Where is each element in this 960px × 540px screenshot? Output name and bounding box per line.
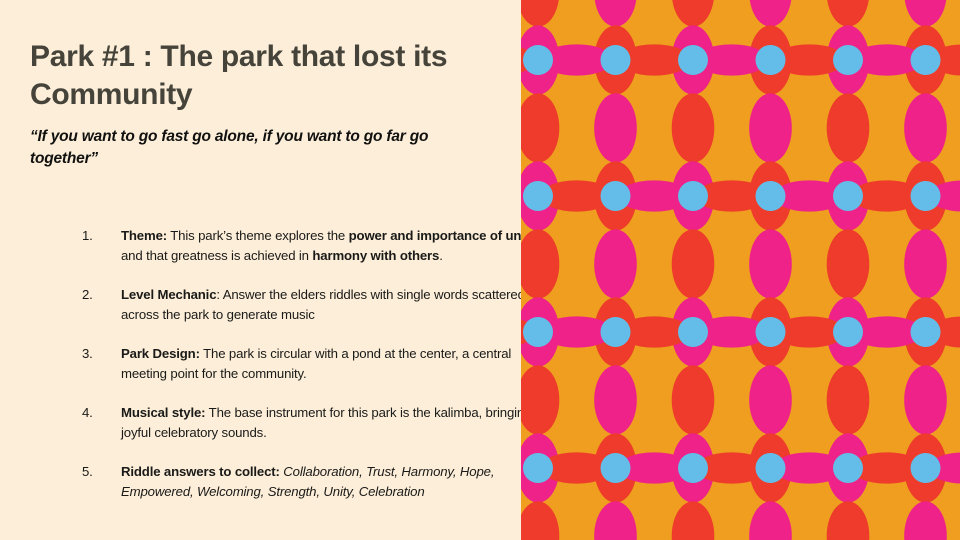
pattern-center-circle: [523, 181, 553, 211]
pattern-center-circle: [523, 453, 553, 483]
pattern-center-circle: [911, 453, 941, 483]
pattern-center-circle: [911, 317, 941, 347]
pattern-petal-vertical: [594, 365, 637, 434]
pattern-petal-vertical: [594, 93, 637, 162]
pattern-center-circle: [523, 317, 553, 347]
list-item-label: Riddle answers to collect:: [121, 464, 280, 479]
list-item-label: Theme:: [121, 228, 167, 243]
pattern-petal-vertical: [749, 229, 792, 298]
pattern-center-circle: [756, 181, 786, 211]
floral-grid-pattern-svg: [521, 0, 960, 540]
list-item-label: Musical style:: [121, 405, 205, 420]
pattern-center-circle: [756, 453, 786, 483]
pattern-center-circle: [833, 181, 863, 211]
pattern-center-circle: [678, 317, 708, 347]
pattern-center-circle: [601, 45, 631, 75]
pattern-center-circle: [756, 45, 786, 75]
pattern-center-circle: [678, 45, 708, 75]
pattern-center-circle: [523, 45, 553, 75]
pattern-center-circle: [833, 453, 863, 483]
list-item-number: 2.: [82, 285, 93, 305]
list-item-number: 4.: [82, 403, 93, 423]
list-item: 1.Theme: This park’s theme explores the …: [73, 226, 543, 267]
slide-subtitle-quote: “If you want to go fast go alone, if you…: [30, 126, 492, 171]
list-item: 2.Level Mechanic: Answer the elders ridd…: [73, 285, 543, 326]
list-item: 3.Park Design: The park is circular with…: [73, 344, 543, 385]
list-item-number: 3.: [82, 344, 93, 364]
list-item-text: harmony with others: [312, 248, 439, 263]
pattern-center-circle: [601, 181, 631, 211]
pattern-petal-vertical: [672, 229, 715, 298]
pattern-petal-vertical: [594, 229, 637, 298]
pattern-petal-vertical: [827, 229, 870, 298]
list-item: 5.Riddle answers to collect: Collaborati…: [73, 462, 543, 503]
pattern-petal-vertical: [904, 365, 947, 434]
pattern-center-circle: [911, 181, 941, 211]
pattern-center-circle: [833, 45, 863, 75]
list-item-label: Level Mechanic: [121, 287, 216, 302]
pattern-petal-vertical: [672, 365, 715, 434]
pattern-petal-vertical: [749, 93, 792, 162]
list-item-number: 5.: [82, 462, 93, 482]
list-item-text: and that greatness is achieved in: [121, 248, 312, 263]
pattern-petal-vertical: [904, 93, 947, 162]
list-item-number: 1.: [82, 226, 93, 246]
pattern-center-circle: [601, 453, 631, 483]
list-item: 4.Musical style: The base instrument for…: [73, 403, 543, 444]
pattern-center-circle: [678, 453, 708, 483]
pattern-petal-vertical: [904, 229, 947, 298]
bullet-list: 1.Theme: This park’s theme explores the …: [33, 226, 543, 503]
pattern-center-circle: [601, 317, 631, 347]
slide-canvas: Park #1 : The park that lost its Communi…: [0, 0, 960, 540]
pattern-center-circle: [833, 317, 863, 347]
decorative-pattern-panel: [521, 0, 960, 540]
list-item-text: power and importance of unity: [349, 228, 537, 243]
pattern-petal-vertical: [749, 365, 792, 434]
pattern-petal-vertical: [827, 93, 870, 162]
list-item-label: Park Design:: [121, 346, 200, 361]
list-item-text: .: [439, 248, 443, 263]
pattern-petal-vertical: [672, 93, 715, 162]
list-item-text: This park’s theme explores the: [167, 228, 349, 243]
page-title: Park #1 : The park that lost its Communi…: [30, 38, 500, 115]
pattern-petal-vertical: [827, 365, 870, 434]
pattern-center-circle: [911, 45, 941, 75]
pattern-center-circle: [678, 181, 708, 211]
pattern-center-circle: [756, 317, 786, 347]
slide-content-column: Park #1 : The park that lost its Communi…: [0, 0, 521, 540]
